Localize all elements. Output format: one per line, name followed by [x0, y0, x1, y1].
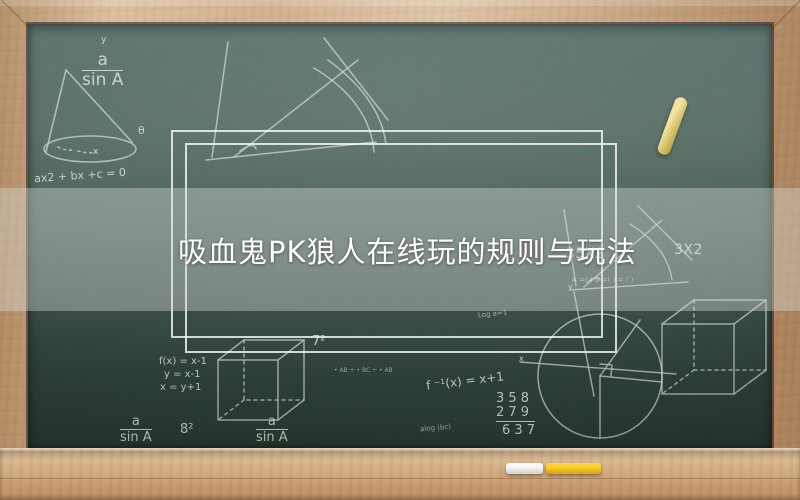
chalkboard-banner: a sin A y x θ ax2 + bx +c = 0 f(x) = x-1… — [0, 0, 800, 500]
function-line-3: x = y+1 — [160, 382, 201, 393]
quadratic-equation: ax2 + bx +c = 0 — [34, 166, 127, 185]
power-eight-squared: 8² — [180, 422, 193, 437]
tiny-similarity-note: • AB ÷ • BC ÷ • AB — [334, 367, 393, 374]
tray-seam — [0, 478, 800, 479]
axis-label-x-1: x — [93, 147, 98, 157]
fraction-a-sin-a-1: a sin A — [82, 52, 123, 90]
axis-label-x-2: x — [519, 354, 524, 363]
page-title: 吸血鬼PK狼人在线玩的规则与玩法 — [0, 188, 800, 311]
fraction-a-sin-a-3: a sin A — [256, 415, 288, 444]
axis-label-y-1: y — [101, 35, 106, 45]
subtraction-subtrahend: 2 7 9 — [496, 406, 535, 422]
subtraction-minuend: 3 5 8 — [496, 392, 535, 406]
angle-label-theta-1: θ — [138, 124, 145, 137]
inverse-function: f ⁻¹(x) = x+1 — [425, 369, 504, 392]
chalk-tray — [0, 448, 800, 500]
function-line-2: y = x-1 — [164, 369, 201, 380]
cube-diagram-2 — [662, 300, 766, 394]
function-line-1: f(x) = x-1 — [159, 356, 207, 367]
log-note-2: alog (bc) — [420, 423, 452, 434]
subtraction-difference: 6 3 7 — [496, 422, 535, 438]
long-subtraction: 3 5 8 2 7 9 6 3 7 — [496, 392, 535, 438]
fraction-a-sin-a-2: a sin A — [120, 415, 152, 444]
tray-shadow — [0, 451, 800, 460]
chalk-tray-white — [506, 463, 543, 474]
chalk-tray-yellow — [546, 463, 601, 474]
